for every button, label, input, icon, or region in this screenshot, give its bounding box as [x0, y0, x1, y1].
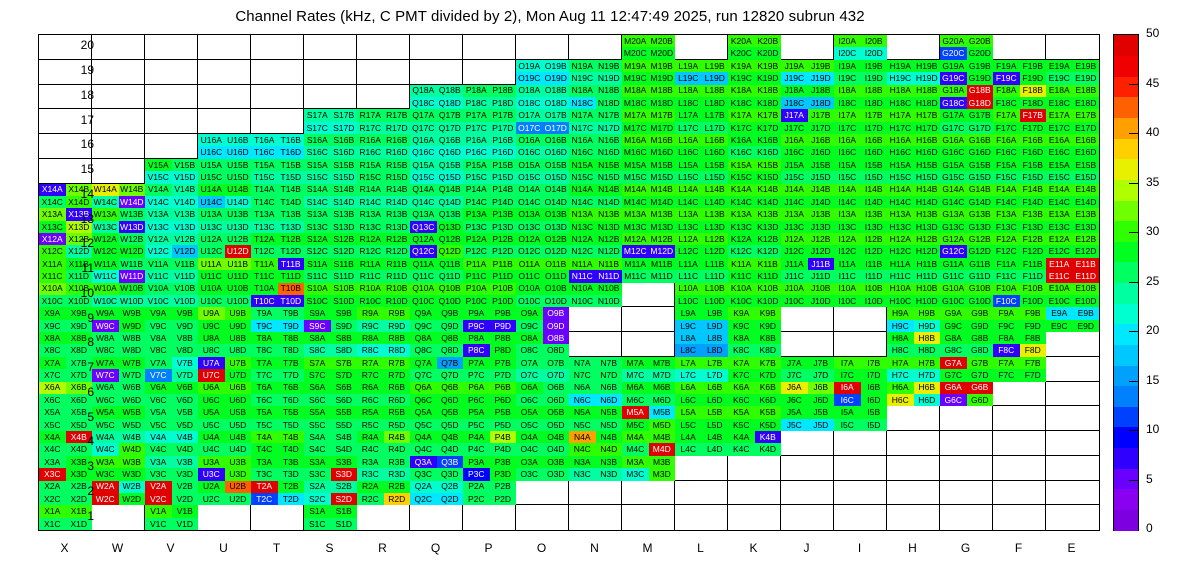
- pmt-channel[interactable]: X10C: [39, 295, 66, 307]
- module-cell[interactable]: [781, 481, 834, 506]
- pmt-channel[interactable]: Q9C: [410, 320, 437, 332]
- module-cell[interactable]: I15AI15BI15CI15D: [834, 159, 887, 184]
- module-cell[interactable]: S2AS2BS2CS2D: [304, 481, 357, 506]
- pmt-channel[interactable]: K4B: [755, 431, 782, 443]
- module-cell[interactable]: S15AS15BS15CS15D: [304, 159, 357, 184]
- pmt-channel[interactable]: L7A: [675, 357, 702, 369]
- pmt-channel[interactable]: N13D: [596, 221, 623, 233]
- pmt-channel[interactable]: J18D: [808, 97, 835, 109]
- pmt-channel[interactable]: G11D: [967, 270, 994, 282]
- module-cell[interactable]: T9AT9BT9CT9D: [251, 307, 304, 332]
- pmt-channel[interactable]: O3B: [543, 456, 570, 468]
- module-cell[interactable]: G17AG17BG17CG17D: [940, 109, 993, 134]
- pmt-channel[interactable]: T16A: [251, 134, 278, 146]
- pmt-channel[interactable]: P11D: [490, 270, 517, 282]
- pmt-channel[interactable]: E17C: [1046, 122, 1073, 134]
- pmt-channel[interactable]: H9A: [887, 307, 914, 319]
- pmt-channel[interactable]: T4D: [278, 443, 305, 455]
- pmt-channel[interactable]: N10D: [596, 295, 623, 307]
- pmt-channel[interactable]: M20A: [622, 35, 649, 47]
- pmt-channel[interactable]: Q10B: [437, 283, 464, 295]
- module-cell[interactable]: V10AV10BV10CV10D: [145, 283, 198, 308]
- pmt-channel[interactable]: Q15D: [437, 171, 464, 183]
- module-cell[interactable]: I6AI6BI6CI6D: [834, 382, 887, 407]
- pmt-channel[interactable]: U8D: [225, 344, 252, 356]
- pmt-channel[interactable]: N12B: [596, 233, 623, 245]
- pmt-channel[interactable]: O9C: [516, 320, 543, 332]
- module-cell[interactable]: N10AN10BN10CN10D: [569, 283, 622, 308]
- module-cell[interactable]: Q5AQ5BQ5CQ5D: [410, 406, 463, 431]
- pmt-channel[interactable]: T11D: [278, 270, 305, 282]
- pmt-channel[interactable]: J5D: [808, 419, 835, 431]
- module-cell[interactable]: N14AN14BN14CN14D: [569, 184, 622, 209]
- pmt-channel[interactable]: K8B: [755, 332, 782, 344]
- pmt-channel[interactable]: F13A: [993, 208, 1020, 220]
- pmt-channel[interactable]: V5A: [145, 406, 172, 418]
- pmt-channel[interactable]: H18A: [887, 85, 914, 97]
- module-cell[interactable]: [145, 85, 198, 110]
- pmt-channel[interactable]: K6C: [728, 394, 755, 406]
- pmt-channel[interactable]: J19C: [781, 72, 808, 84]
- pmt-channel[interactable]: J15B: [808, 159, 835, 171]
- module-cell[interactable]: F13AF13BF13CF13D: [993, 208, 1046, 233]
- pmt-channel[interactable]: E13B: [1073, 208, 1100, 220]
- pmt-channel[interactable]: H7C: [887, 369, 914, 381]
- module-cell[interactable]: [198, 109, 251, 134]
- pmt-channel[interactable]: G12B: [967, 233, 994, 245]
- pmt-channel[interactable]: X14C: [39, 196, 66, 208]
- pmt-channel[interactable]: N4A: [569, 431, 596, 443]
- pmt-channel[interactable]: J10A: [781, 283, 808, 295]
- module-cell[interactable]: [940, 481, 993, 506]
- pmt-channel[interactable]: S3C: [304, 468, 331, 480]
- pmt-channel[interactable]: T10B: [278, 283, 305, 295]
- module-cell[interactable]: [622, 307, 675, 332]
- pmt-channel[interactable]: T16B: [278, 134, 305, 146]
- module-cell[interactable]: S4AS4BS4CS4D: [304, 431, 357, 456]
- pmt-channel[interactable]: N15D: [596, 171, 623, 183]
- module-cell[interactable]: [993, 456, 1046, 481]
- pmt-channel[interactable]: M15A: [622, 159, 649, 171]
- module-cell[interactable]: W3AW3BW3CW3D: [92, 456, 145, 481]
- pmt-channel[interactable]: T8A: [251, 332, 278, 344]
- pmt-channel[interactable]: N7A: [569, 357, 596, 369]
- pmt-channel[interactable]: K17C: [728, 122, 755, 134]
- pmt-channel[interactable]: Q11C: [410, 270, 437, 282]
- pmt-channel[interactable]: S1C: [304, 518, 331, 530]
- pmt-channel[interactable]: L19B: [702, 60, 729, 72]
- pmt-channel[interactable]: I5A: [834, 406, 861, 418]
- pmt-channel[interactable]: L8A: [675, 332, 702, 344]
- pmt-channel[interactable]: P4C: [463, 443, 490, 455]
- module-cell[interactable]: U6AU6BU6CU6D: [198, 382, 251, 407]
- pmt-channel[interactable]: O19A: [516, 60, 543, 72]
- pmt-channel[interactable]: E11C: [1046, 270, 1073, 282]
- pmt-channel[interactable]: J18C: [781, 97, 808, 109]
- pmt-channel[interactable]: T6C: [251, 394, 278, 406]
- pmt-channel[interactable]: F12B: [1020, 233, 1047, 245]
- module-cell[interactable]: V11AV11BV11CV11D: [145, 258, 198, 283]
- pmt-channel[interactable]: O15C: [516, 171, 543, 183]
- pmt-channel[interactable]: S10D: [331, 295, 358, 307]
- module-cell[interactable]: J10AJ10BJ10CJ10D: [781, 283, 834, 308]
- module-cell[interactable]: T10AT10BT10CT10D: [251, 283, 304, 308]
- pmt-channel[interactable]: X3A: [39, 456, 66, 468]
- pmt-channel[interactable]: Q10D: [437, 295, 464, 307]
- pmt-channel[interactable]: J12B: [808, 233, 835, 245]
- module-cell[interactable]: U9AU9BU9CU9D: [198, 307, 251, 332]
- module-cell[interactable]: K4AK4BK4CK4D: [728, 431, 781, 456]
- pmt-channel[interactable]: I19A: [834, 60, 861, 72]
- pmt-channel[interactable]: E12A: [1046, 233, 1073, 245]
- pmt-channel[interactable]: P10C: [463, 295, 490, 307]
- module-cell[interactable]: [92, 60, 145, 85]
- pmt-channel[interactable]: E11A: [1046, 258, 1073, 270]
- pmt-channel[interactable]: E16A: [1046, 134, 1073, 146]
- pmt-channel[interactable]: F19C: [993, 72, 1020, 84]
- pmt-channel[interactable]: H11B: [914, 258, 941, 270]
- pmt-channel[interactable]: R9B: [384, 307, 411, 319]
- module-cell[interactable]: [940, 431, 993, 456]
- module-cell[interactable]: H9AH9BH9CH9D: [887, 307, 940, 332]
- pmt-channel[interactable]: W10B: [119, 283, 146, 295]
- pmt-channel[interactable]: H9B: [914, 307, 941, 319]
- pmt-channel[interactable]: U4C: [198, 443, 225, 455]
- pmt-channel[interactable]: L5D: [702, 419, 729, 431]
- module-cell[interactable]: S14AS14BS14CS14D: [304, 184, 357, 209]
- pmt-channel[interactable]: J5A: [781, 406, 808, 418]
- module-cell[interactable]: T12AT12BT12CT12D: [251, 233, 304, 258]
- pmt-channel[interactable]: H11C: [887, 270, 914, 282]
- module-cell[interactable]: [251, 35, 304, 60]
- pmt-channel[interactable]: P9C: [463, 320, 490, 332]
- pmt-channel[interactable]: O8A: [516, 332, 543, 344]
- pmt-channel[interactable]: W12D: [119, 245, 146, 257]
- pmt-channel[interactable]: K15B: [755, 159, 782, 171]
- pmt-channel[interactable]: T14C: [251, 196, 278, 208]
- pmt-channel[interactable]: V11A: [145, 258, 172, 270]
- pmt-channel[interactable]: W12C: [92, 245, 119, 257]
- pmt-channel[interactable]: P16A: [463, 134, 490, 146]
- pmt-channel[interactable]: S12D: [331, 245, 358, 257]
- pmt-channel[interactable]: V14A: [145, 184, 172, 196]
- pmt-channel[interactable]: F18D: [1020, 97, 1047, 109]
- pmt-channel[interactable]: T8D: [278, 344, 305, 356]
- module-cell[interactable]: I10AI10BI10CI10D: [834, 283, 887, 308]
- pmt-channel[interactable]: J17B: [808, 109, 835, 121]
- pmt-channel[interactable]: T14D: [278, 196, 305, 208]
- module-cell[interactable]: T13AT13BT13CT13D: [251, 208, 304, 233]
- pmt-channel[interactable]: X9C: [39, 320, 66, 332]
- pmt-channel[interactable]: H13C: [887, 221, 914, 233]
- pmt-channel[interactable]: U15D: [225, 171, 252, 183]
- pmt-channel[interactable]: U12C: [198, 245, 225, 257]
- pmt-channel[interactable]: L16B: [702, 134, 729, 146]
- module-cell[interactable]: U7AU7BU7CU7D: [198, 357, 251, 382]
- module-cell[interactable]: S3AS3BS3CS3D: [304, 456, 357, 481]
- pmt-channel[interactable]: G14D: [967, 196, 994, 208]
- pmt-channel[interactable]: S14D: [331, 196, 358, 208]
- pmt-channel[interactable]: P12A: [463, 233, 490, 245]
- module-cell[interactable]: [569, 481, 622, 506]
- module-cell[interactable]: O13AO13BO13CO13D: [516, 208, 569, 233]
- pmt-channel[interactable]: O15B: [543, 159, 570, 171]
- module-cell[interactable]: [569, 332, 622, 357]
- module-cell[interactable]: O15AO15BO15CO15D: [516, 159, 569, 184]
- pmt-channel[interactable]: H18B: [914, 85, 941, 97]
- module-cell[interactable]: Q17AQ17BQ17CQ17D: [410, 109, 463, 134]
- pmt-channel[interactable]: N11A: [569, 258, 596, 270]
- pmt-channel[interactable]: I18B: [861, 85, 888, 97]
- pmt-channel[interactable]: I6A: [834, 382, 861, 394]
- pmt-channel[interactable]: Q8D: [437, 344, 464, 356]
- pmt-channel[interactable]: F18B: [1020, 85, 1047, 97]
- pmt-channel[interactable]: F18C: [993, 97, 1020, 109]
- pmt-channel[interactable]: H11D: [914, 270, 941, 282]
- module-cell[interactable]: [1046, 481, 1099, 506]
- module-cell[interactable]: I19AI19BI19CI19D: [834, 60, 887, 85]
- pmt-channel[interactable]: K18B: [755, 85, 782, 97]
- pmt-channel[interactable]: M5D: [649, 419, 676, 431]
- pmt-channel[interactable]: Q17D: [437, 122, 464, 134]
- pmt-channel[interactable]: T9A: [251, 307, 278, 319]
- pmt-channel[interactable]: R5A: [357, 406, 384, 418]
- module-cell[interactable]: P13AP13BP13CP13D: [463, 208, 516, 233]
- pmt-channel[interactable]: M5C: [622, 419, 649, 431]
- module-cell[interactable]: G18AG18BG18CG18D: [940, 85, 993, 110]
- pmt-channel[interactable]: K14D: [755, 196, 782, 208]
- pmt-channel[interactable]: S7D: [331, 369, 358, 381]
- pmt-channel[interactable]: L7D: [702, 369, 729, 381]
- module-cell[interactable]: T8AT8BT8CT8D: [251, 332, 304, 357]
- module-cell[interactable]: [622, 505, 675, 530]
- pmt-channel[interactable]: F11C: [993, 270, 1020, 282]
- pmt-channel[interactable]: K14A: [728, 184, 755, 196]
- pmt-channel[interactable]: R5D: [384, 419, 411, 431]
- pmt-channel[interactable]: H15B: [914, 159, 941, 171]
- pmt-channel[interactable]: G20D: [967, 47, 994, 59]
- module-cell[interactable]: K5AK5BK5CK5D: [728, 406, 781, 431]
- module-cell[interactable]: P5AP5BP5CP5D: [463, 406, 516, 431]
- pmt-channel[interactable]: S2D: [331, 493, 358, 505]
- pmt-channel[interactable]: T12B: [278, 233, 305, 245]
- module-cell[interactable]: [834, 481, 887, 506]
- pmt-channel[interactable]: V5C: [145, 419, 172, 431]
- pmt-channel[interactable]: L12B: [702, 233, 729, 245]
- module-cell[interactable]: M20AM20BM20CM20D: [622, 35, 675, 60]
- module-cell[interactable]: U3AU3BU3CU3D: [198, 456, 251, 481]
- pmt-channel[interactable]: Q15C: [410, 171, 437, 183]
- pmt-channel[interactable]: K12D: [755, 245, 782, 257]
- module-cell[interactable]: T15AT15BT15CT15D: [251, 159, 304, 184]
- pmt-channel[interactable]: K16D: [755, 146, 782, 158]
- pmt-channel[interactable]: O12A: [516, 233, 543, 245]
- pmt-channel[interactable]: G18A: [940, 85, 967, 97]
- pmt-channel[interactable]: U11B: [225, 258, 252, 270]
- pmt-channel[interactable]: N15A: [569, 159, 596, 171]
- pmt-channel[interactable]: R7B: [384, 357, 411, 369]
- module-cell[interactable]: Q7AQ7BQ7CQ7D: [410, 357, 463, 382]
- pmt-channel[interactable]: Q12A: [410, 233, 437, 245]
- module-cell[interactable]: T2AT2BT2CT2D: [251, 481, 304, 506]
- pmt-channel[interactable]: M6A: [622, 382, 649, 394]
- pmt-channel[interactable]: W14B: [119, 184, 146, 196]
- pmt-channel[interactable]: K11C: [728, 270, 755, 282]
- pmt-channel[interactable]: U10D: [225, 295, 252, 307]
- pmt-channel[interactable]: W14D: [119, 196, 146, 208]
- pmt-channel[interactable]: P3C: [463, 468, 490, 480]
- pmt-channel[interactable]: Q7C: [410, 369, 437, 381]
- module-cell[interactable]: R2AR2BR2CR2D: [357, 481, 410, 506]
- pmt-channel[interactable]: G11A: [940, 258, 967, 270]
- pmt-channel[interactable]: J16B: [808, 134, 835, 146]
- pmt-channel[interactable]: R13C: [357, 221, 384, 233]
- pmt-channel[interactable]: S6C: [304, 394, 331, 406]
- pmt-channel[interactable]: M14A: [622, 184, 649, 196]
- pmt-channel[interactable]: W13B: [119, 208, 146, 220]
- pmt-channel[interactable]: P5A: [463, 406, 490, 418]
- pmt-channel[interactable]: R4C: [357, 443, 384, 455]
- pmt-channel[interactable]: I16B: [861, 134, 888, 146]
- pmt-channel[interactable]: I13B: [861, 208, 888, 220]
- pmt-channel[interactable]: N14A: [569, 184, 596, 196]
- pmt-channel[interactable]: K5B: [755, 406, 782, 418]
- pmt-channel[interactable]: L16D: [702, 146, 729, 158]
- module-cell[interactable]: [1046, 431, 1099, 456]
- pmt-channel[interactable]: I14C: [834, 196, 861, 208]
- pmt-channel[interactable]: K16C: [728, 146, 755, 158]
- pmt-channel[interactable]: G16D: [967, 146, 994, 158]
- module-cell[interactable]: W14AW14BW14CW14D: [92, 184, 145, 209]
- pmt-channel[interactable]: L18B: [702, 85, 729, 97]
- pmt-channel[interactable]: I10D: [861, 295, 888, 307]
- pmt-channel[interactable]: T5D: [278, 419, 305, 431]
- pmt-channel[interactable]: R15C: [357, 171, 384, 183]
- pmt-channel[interactable]: F17A: [993, 109, 1020, 121]
- module-cell[interactable]: L8AL8BL8CL8D: [675, 332, 728, 357]
- pmt-channel[interactable]: F10A: [993, 283, 1020, 295]
- pmt-channel[interactable]: W5D: [119, 419, 146, 431]
- module-cell[interactable]: H19AH19BH19CH19D: [887, 60, 940, 85]
- module-cell[interactable]: L4AL4BL4CL4D: [675, 431, 728, 456]
- pmt-channel[interactable]: Q8C: [410, 344, 437, 356]
- pmt-channel[interactable]: T5A: [251, 406, 278, 418]
- pmt-channel[interactable]: J15C: [781, 171, 808, 183]
- pmt-channel[interactable]: V11D: [172, 270, 199, 282]
- pmt-channel[interactable]: S5A: [304, 406, 331, 418]
- module-cell[interactable]: T11AT11BT11CT11D: [251, 258, 304, 283]
- pmt-channel[interactable]: U7D: [225, 369, 252, 381]
- pmt-channel[interactable]: W3B: [119, 456, 146, 468]
- pmt-channel[interactable]: I16C: [834, 146, 861, 158]
- pmt-channel[interactable]: H19C: [887, 72, 914, 84]
- pmt-channel[interactable]: O17A: [516, 109, 543, 121]
- pmt-channel[interactable]: W8B: [119, 332, 146, 344]
- module-cell[interactable]: S11AS11BS11CS11D: [304, 258, 357, 283]
- pmt-channel[interactable]: S10C: [304, 295, 331, 307]
- pmt-channel[interactable]: P7D: [490, 369, 517, 381]
- module-cell[interactable]: E18AE18BE18CE18D: [1046, 85, 1099, 110]
- module-cell[interactable]: H6AH6BH6CH6D: [887, 382, 940, 407]
- pmt-channel[interactable]: I6D: [861, 394, 888, 406]
- pmt-channel[interactable]: V4C: [145, 443, 172, 455]
- pmt-channel[interactable]: M4C: [622, 443, 649, 455]
- pmt-channel[interactable]: Q11A: [410, 258, 437, 270]
- module-cell[interactable]: K19AK19BK19CK19D: [728, 60, 781, 85]
- module-cell[interactable]: K11AK11BK11CK11D: [728, 258, 781, 283]
- pmt-channel[interactable]: Q16D: [437, 146, 464, 158]
- pmt-channel[interactable]: F7D: [1020, 369, 1047, 381]
- pmt-channel[interactable]: L11C: [675, 270, 702, 282]
- pmt-channel[interactable]: U10B: [225, 283, 252, 295]
- pmt-channel[interactable]: N5B: [596, 406, 623, 418]
- module-cell[interactable]: K8AK8BK8CK8D: [728, 332, 781, 357]
- pmt-channel[interactable]: F19A: [993, 60, 1020, 72]
- pmt-channel[interactable]: R6B: [384, 382, 411, 394]
- pmt-channel[interactable]: V6D: [172, 394, 199, 406]
- pmt-channel[interactable]: I19D: [861, 72, 888, 84]
- pmt-channel[interactable]: P15B: [490, 159, 517, 171]
- module-cell[interactable]: [887, 505, 940, 530]
- pmt-channel[interactable]: J11A: [781, 258, 808, 270]
- pmt-channel[interactable]: T13D: [278, 221, 305, 233]
- pmt-channel[interactable]: W8D: [119, 344, 146, 356]
- pmt-channel[interactable]: T8B: [278, 332, 305, 344]
- pmt-channel[interactable]: I11D: [861, 270, 888, 282]
- pmt-channel[interactable]: P4A: [463, 431, 490, 443]
- pmt-channel[interactable]: R9D: [384, 320, 411, 332]
- pmt-channel[interactable]: G6D: [967, 394, 994, 406]
- pmt-channel[interactable]: P9A: [463, 307, 490, 319]
- module-cell[interactable]: Q16AQ16BQ16CQ16D: [410, 134, 463, 159]
- pmt-channel[interactable]: P12C: [463, 245, 490, 257]
- pmt-channel[interactable]: W2D: [119, 493, 146, 505]
- pmt-channel[interactable]: S16A: [304, 134, 331, 146]
- module-cell[interactable]: W7AW7BW7CW7D: [92, 357, 145, 382]
- pmt-channel[interactable]: L19A: [675, 60, 702, 72]
- pmt-channel[interactable]: S10B: [331, 283, 358, 295]
- pmt-channel[interactable]: P2B: [490, 481, 517, 493]
- pmt-channel[interactable]: I20C: [834, 47, 861, 59]
- pmt-channel[interactable]: X6A: [39, 382, 66, 394]
- pmt-channel[interactable]: J19A: [781, 60, 808, 72]
- pmt-channel[interactable]: R3A: [357, 456, 384, 468]
- pmt-channel[interactable]: S17A: [304, 109, 331, 121]
- pmt-channel[interactable]: T7B: [278, 357, 305, 369]
- pmt-channel[interactable]: X12C: [39, 245, 66, 257]
- pmt-channel[interactable]: F14D: [1020, 196, 1047, 208]
- module-cell[interactable]: M11AM11BM11CM11D: [622, 258, 675, 283]
- module-cell[interactable]: E11AE11BE11CE11D: [1046, 258, 1099, 283]
- pmt-channel[interactable]: E15D: [1073, 171, 1100, 183]
- module-cell[interactable]: J12AJ12BJ12CJ12D: [781, 233, 834, 258]
- pmt-channel[interactable]: N17B: [596, 109, 623, 121]
- module-cell[interactable]: [1046, 406, 1099, 431]
- pmt-channel[interactable]: T16C: [251, 146, 278, 158]
- pmt-channel[interactable]: H16A: [887, 134, 914, 146]
- pmt-channel[interactable]: Q18D: [437, 97, 464, 109]
- module-cell[interactable]: G10AG10BG10CG10D: [940, 283, 993, 308]
- module-cell[interactable]: [834, 456, 887, 481]
- pmt-channel[interactable]: R12B: [384, 233, 411, 245]
- module-cell[interactable]: V13AV13BV13CV13D: [145, 208, 198, 233]
- module-cell[interactable]: V12AV12BV12CV12D: [145, 233, 198, 258]
- pmt-channel[interactable]: H19D: [914, 72, 941, 84]
- module-cell[interactable]: [516, 35, 569, 60]
- pmt-channel[interactable]: M7B: [649, 357, 676, 369]
- pmt-channel[interactable]: S9A: [304, 307, 331, 319]
- pmt-channel[interactable]: E15A: [1046, 159, 1073, 171]
